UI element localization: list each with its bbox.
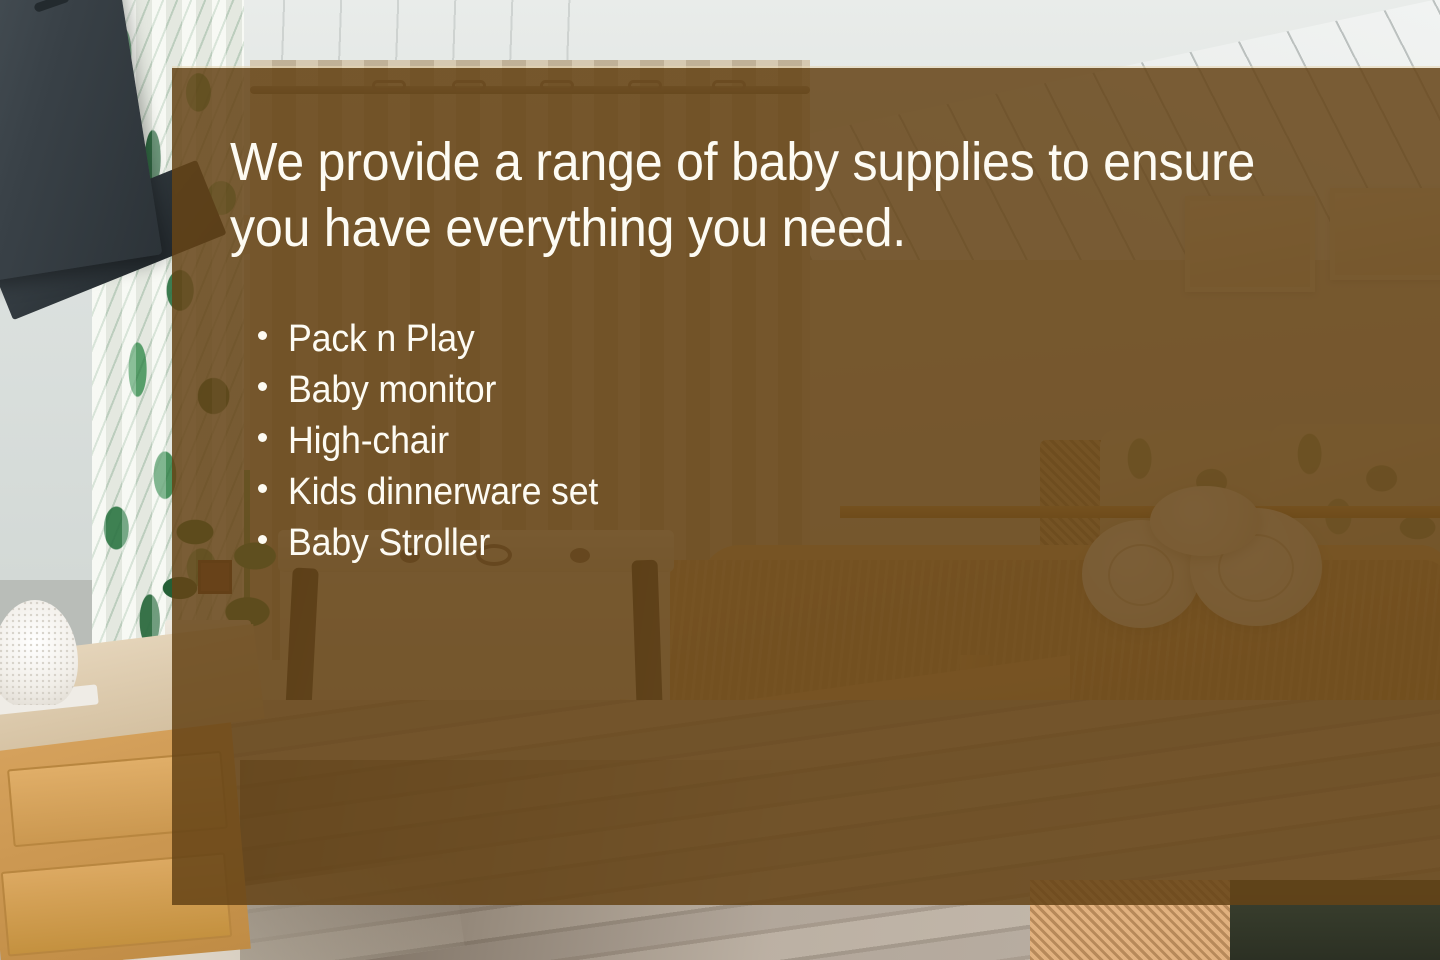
list-item: Kids dinnerware set: [258, 467, 1440, 518]
list-item-label: High-chair: [288, 416, 449, 467]
list-item: High-chair: [258, 416, 1440, 467]
bullet-dot-icon: [258, 433, 267, 442]
list-item-label: Baby monitor: [288, 365, 496, 416]
list-item: Baby Stroller: [258, 518, 1440, 569]
supplies-list: Pack n Play Baby monitor High-chair Kids…: [230, 314, 1440, 570]
list-item-label: Kids dinnerware set: [288, 467, 598, 518]
list-item: Pack n Play: [258, 314, 1440, 365]
bullet-dot-icon: [258, 535, 267, 544]
list-item-label: Baby Stroller: [288, 518, 490, 569]
list-item: Baby monitor: [258, 365, 1440, 416]
slide-canvas: GRACO: [0, 0, 1440, 960]
bullet-dot-icon: [258, 382, 267, 391]
list-item-label: Pack n Play: [288, 314, 475, 365]
bullet-dot-icon: [258, 484, 267, 493]
overlay-content: We provide a range of baby supplies to e…: [172, 68, 1440, 905]
tv-vent-slot: [33, 0, 70, 13]
coral-sculpture-texture: [0, 600, 78, 705]
bullet-dot-icon: [258, 331, 267, 340]
headline: We provide a range of baby supplies to e…: [230, 130, 1337, 262]
